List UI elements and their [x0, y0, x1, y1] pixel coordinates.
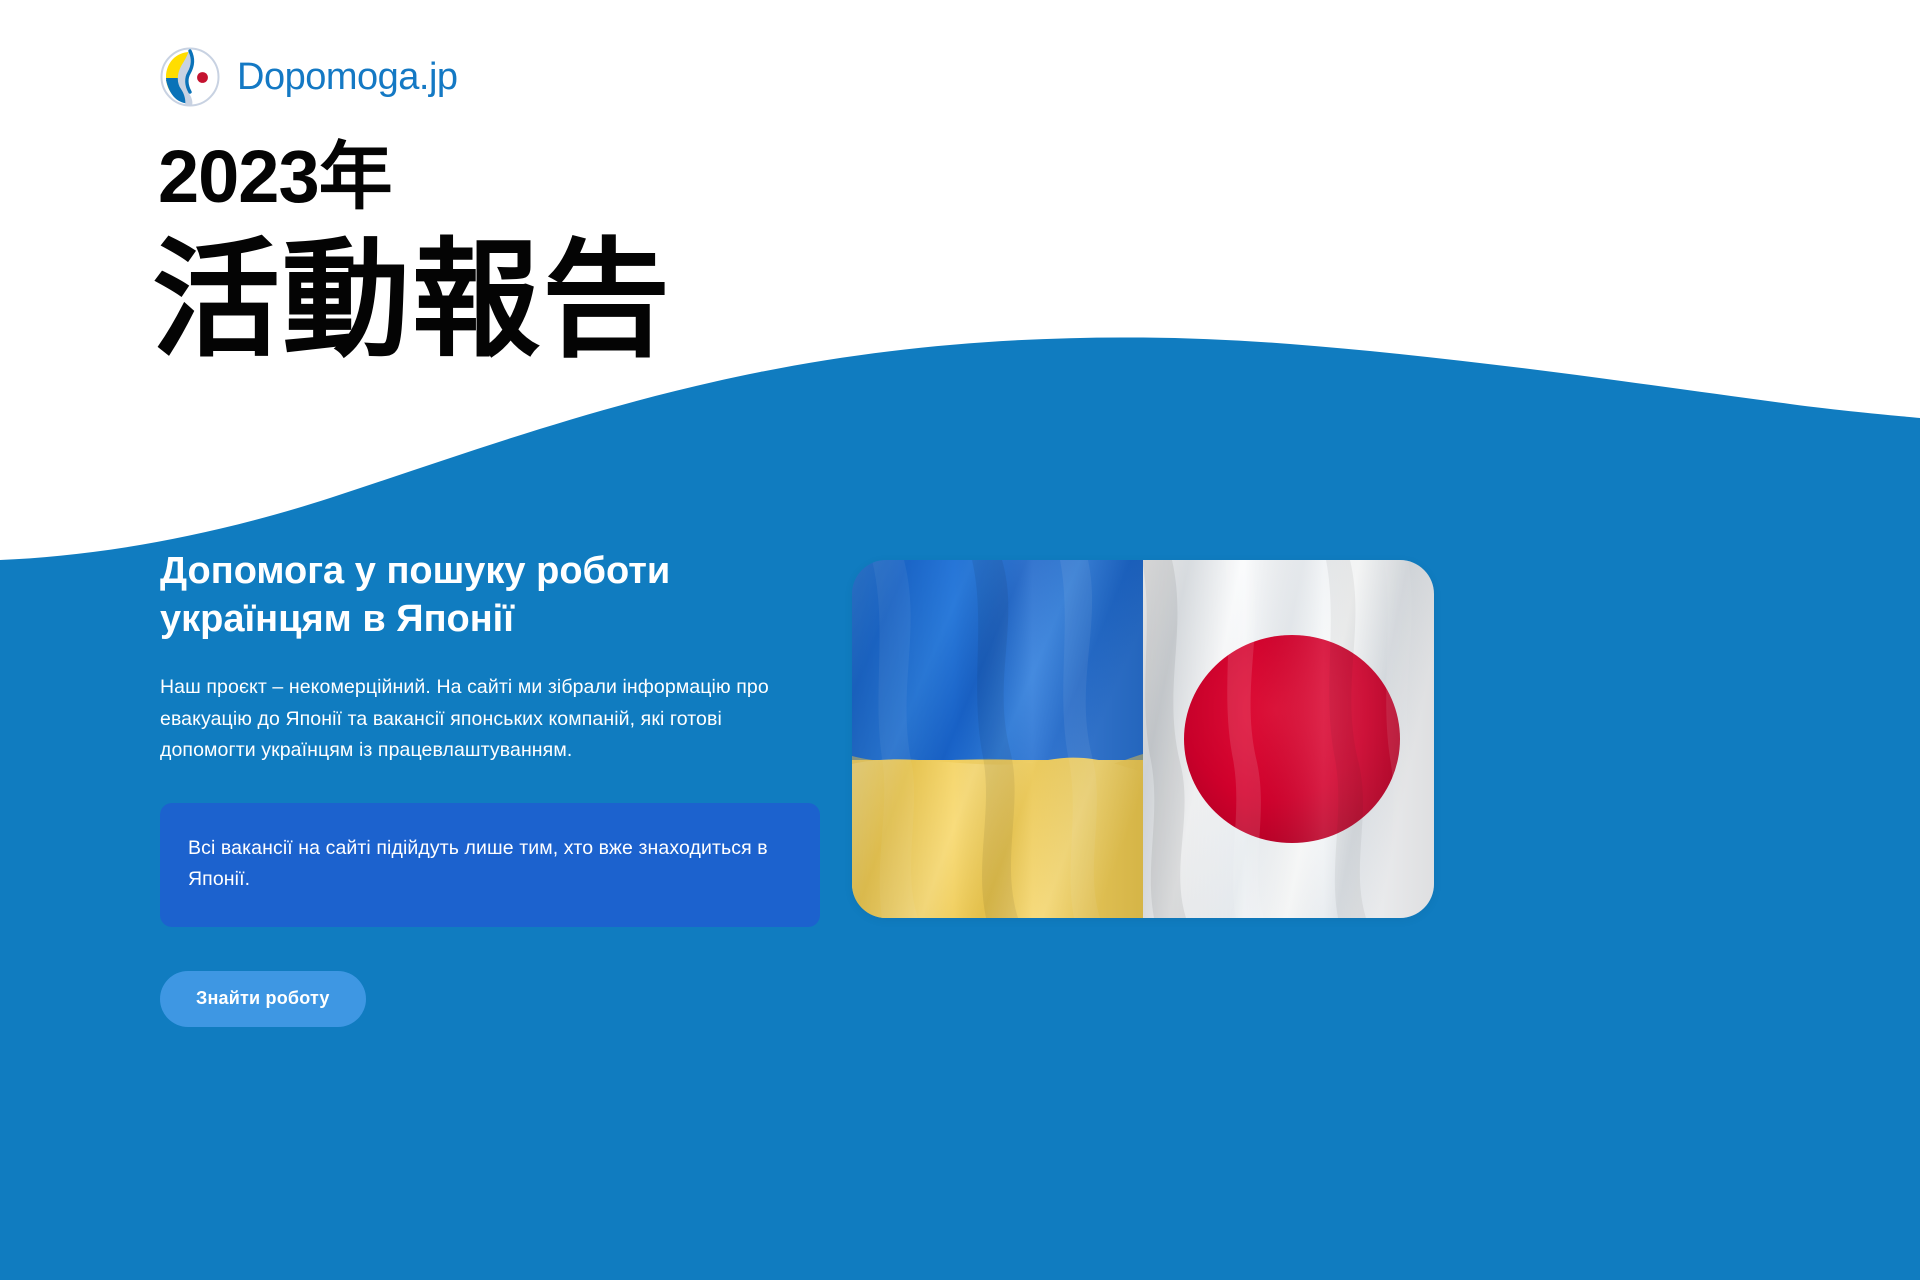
- notice-callout: Всі вакансії на сайті підійдуть лише тим…: [160, 803, 820, 927]
- poster-canvas: Dopomoga.jp 2023年 活動報告 Допомога у пошуку…: [0, 0, 1920, 1280]
- main-content-column: Допомога у пошуку роботи українцям в Япо…: [160, 548, 820, 1027]
- report-title: 活動報告: [152, 236, 672, 367]
- brand-wordmark: Dopomoga.jp: [237, 58, 458, 96]
- find-job-button[interactable]: Знайти роботу: [160, 971, 366, 1027]
- section-paragraph: Наш проєкт – некомерційний. На сайті ми …: [160, 672, 820, 767]
- ukraine-japan-flags-image: [852, 560, 1434, 918]
- section-heading: Допомога у пошуку роботи українцям в Япо…: [160, 548, 820, 644]
- brand-logo[interactable]: Dopomoga.jp: [160, 47, 458, 107]
- notice-text: Всі вакансії на сайті підійдуть лише тим…: [188, 833, 792, 895]
- flags-artwork: [852, 560, 1434, 918]
- dopomoga-emblem-icon: [160, 47, 220, 107]
- year-title: 2023年: [158, 140, 392, 214]
